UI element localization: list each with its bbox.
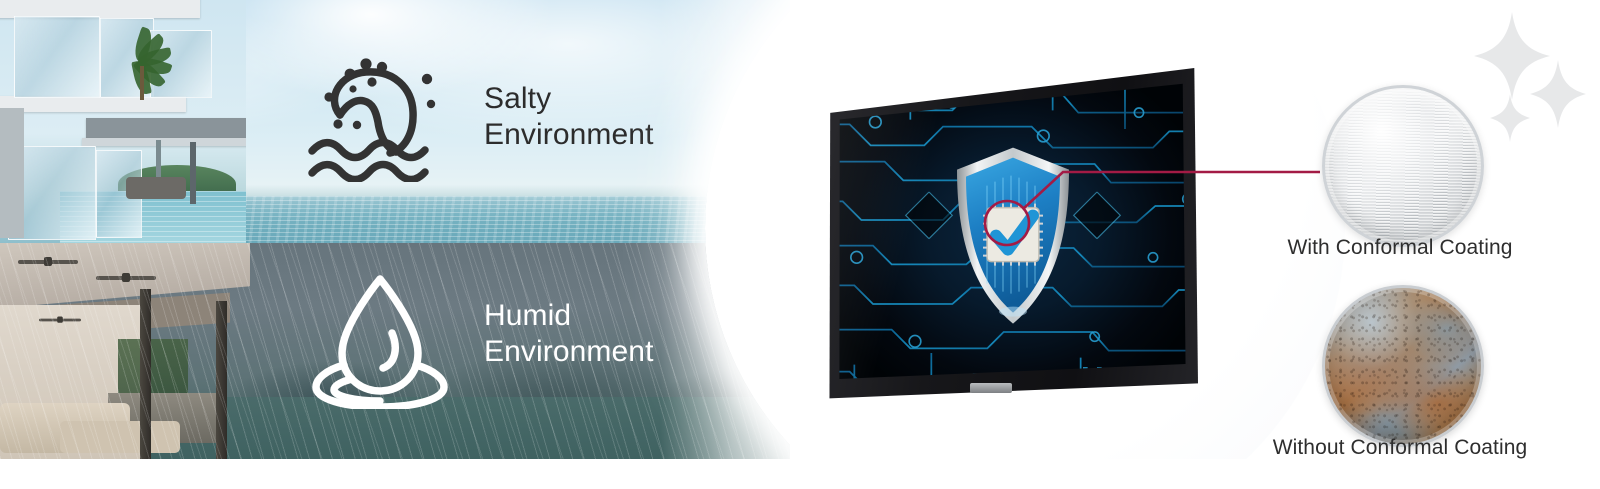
environment-label-humid: Humid Environment <box>484 298 654 370</box>
swatch-with-coating <box>1322 85 1484 247</box>
water-droplet-ripple-icon <box>300 269 460 399</box>
flat-panel-display <box>828 68 1198 400</box>
bottom-white-strip <box>0 459 1600 489</box>
security-shield-graphic <box>951 146 1075 326</box>
display-stand <box>970 383 1012 393</box>
coastal-villa-photo <box>0 0 246 243</box>
caption-with-coating: With Conformal Coating <box>1190 236 1600 260</box>
swatch-without-coating <box>1322 285 1484 447</box>
environment-item-humid: Humid Environment <box>300 269 654 399</box>
palm-tree <box>104 40 178 106</box>
environment-item-salty: Salty Environment <box>300 52 654 182</box>
caption-without-coating: Without Conformal Coating <box>1190 436 1600 460</box>
wave-splash-icon <box>300 52 460 182</box>
banner-root: Salty Environment <box>0 0 1600 489</box>
environment-label-salty: Salty Environment <box>484 81 654 153</box>
corrosion-texture <box>1325 288 1481 444</box>
display-screen <box>838 82 1188 382</box>
